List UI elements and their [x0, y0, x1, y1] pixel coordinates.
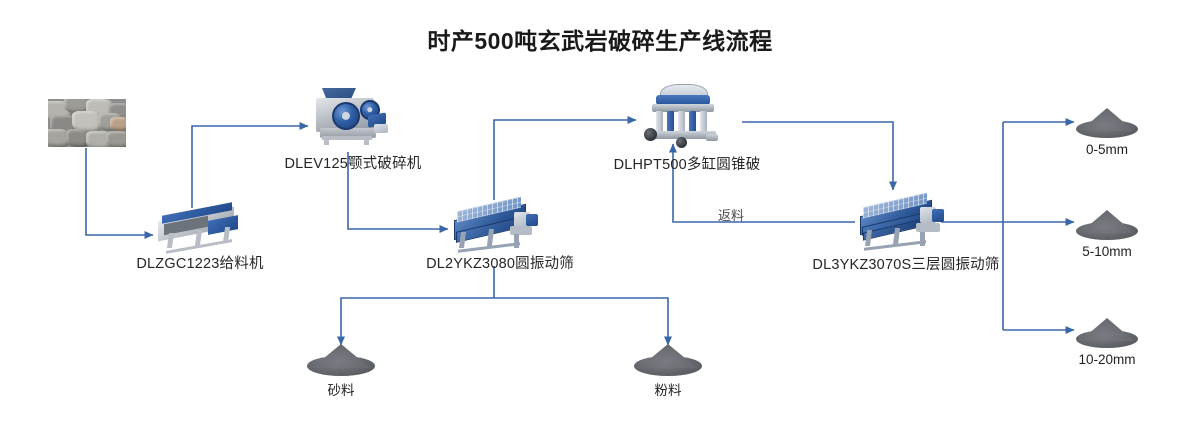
return-material-note: 返料 [718, 205, 744, 224]
cone-crusher-icon [640, 84, 734, 148]
jaw-crusher-icon [312, 88, 392, 146]
edge-screen-to-sand [341, 266, 494, 345]
sand-pile-icon [307, 344, 375, 376]
cone-crusher-label: DLHPT500多缸圆锥破 [587, 153, 787, 174]
product-label-5-10mm: 5-10mm [1057, 244, 1157, 259]
flowchart-canvas: 时产500吨玄武岩破碎生产线流程 [0, 0, 1200, 430]
product-pile-0-5mm-icon [1076, 108, 1138, 138]
triple-deck-screen-icon [858, 192, 954, 250]
raw-material-photo [48, 99, 126, 147]
product-pile-5-10mm-icon [1076, 210, 1138, 240]
edge-screen-to-powder [494, 298, 668, 345]
product-label-10-20mm: 10-20mm [1057, 352, 1157, 367]
feeder-label: DLZGC1223给料机 [100, 252, 300, 273]
edge-raw-to-feeder [86, 148, 153, 235]
primary-screen-label: DL2YKZ3080圆振动筛 [400, 252, 600, 273]
product-pile-10-20mm-icon [1076, 318, 1138, 348]
jaw-crusher-label: DLEV125颚式破碎机 [253, 152, 453, 173]
vibrating-screen-icon [452, 196, 548, 252]
sand-pile-label: 砂料 [291, 379, 391, 399]
powder-pile-icon [634, 344, 702, 376]
vibrating-feeder-icon [152, 200, 248, 252]
triple-screen-label: DL3YKZ3070S三层圆振动筛 [781, 253, 1031, 274]
powder-pile-label: 粉料 [618, 379, 718, 399]
product-label-0-5mm: 0-5mm [1057, 142, 1157, 157]
